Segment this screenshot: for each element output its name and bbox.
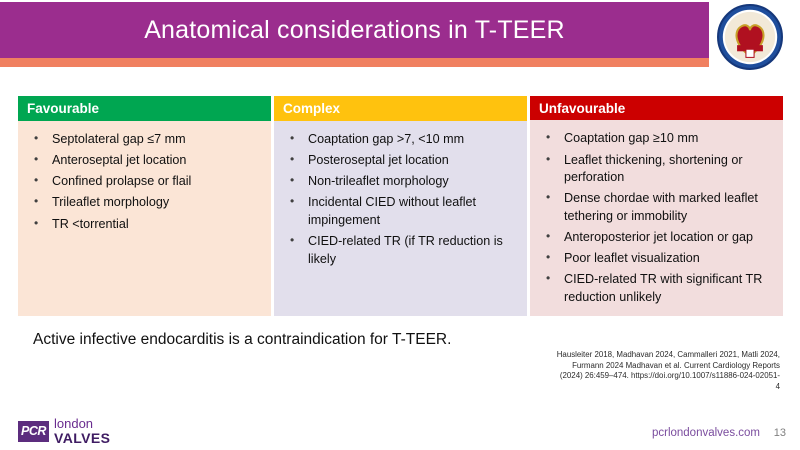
complex-list: Coaptation gap >7, <10 mm Posteroseptal … [278,131,519,268]
list-item: Incidental CIED without leaflet impingem… [278,194,519,229]
list-item: Non-trileaflet morphology [278,173,519,191]
list-item: Septolateral gap ≤7 mm [22,131,263,149]
list-item: Leaflet thickening, shortening or perfor… [534,152,775,187]
slide: Anatomical considerations in T-TEER Favo… [0,0,800,450]
column-body-favourable: Septolateral gap ≤7 mm Anteroseptal jet … [18,121,271,316]
pcr-wordmark-valves: VALVES [54,431,110,445]
column-complex: Complex Coaptation gap >7, <10 mm Poster… [274,96,527,316]
list-item: Posteroseptal jet location [278,152,519,170]
list-item: CIED-related TR (if TR reduction is like… [278,233,519,268]
list-item: Coaptation gap >7, <10 mm [278,131,519,149]
column-body-unfavourable: Coaptation gap ≥10 mm Leaflet thickening… [530,120,783,316]
list-item: Coaptation gap ≥10 mm [534,130,775,148]
title-banner: Anatomical considerations in T-TEER [0,2,709,58]
contraindication-statement: Active infective endocarditis is a contr… [33,331,451,349]
column-header-favourable: Favourable [18,96,271,121]
column-body-complex: Coaptation gap >7, <10 mm Posteroseptal … [274,121,527,316]
column-favourable: Favourable Septolateral gap ≤7 mm Antero… [18,96,271,316]
considerations-table: Favourable Septolateral gap ≤7 mm Antero… [18,96,783,316]
citation-line-2: Furmann 2024 Madhavan et al. Current Car… [483,361,780,372]
unfavourable-list: Coaptation gap ≥10 mm Leaflet thickening… [534,130,775,306]
accent-stripe [0,58,709,67]
pcr-london-valves-logo: PCR london VALVES [18,417,110,445]
list-item: Anteroseptal jet location [22,152,263,170]
website-url[interactable]: pcrlondonvalves.com [652,427,760,439]
citation-line-1: Hausleiter 2018, Madhavan 2024, Cammalle… [483,350,780,361]
favourable-list: Septolateral gap ≤7 mm Anteroseptal jet … [22,131,263,233]
list-item: Poor leaflet visualization [534,250,775,268]
citation-block: Hausleiter 2018, Madhavan 2024, Cammalle… [483,350,780,392]
list-item: Trileaflet morphology [22,194,263,212]
list-item: Dense chordae with marked leaflet tether… [534,190,775,225]
slide-number: 13 [774,427,786,439]
column-header-complex: Complex [274,96,527,121]
pcr-wordmark-london: london [54,417,110,430]
list-item: Anteroposterior jet location or gap [534,229,775,247]
column-header-unfavourable: Unfavourable [530,96,783,120]
citation-line-4: 4 [483,382,780,393]
list-item: TR <torrential [22,216,263,234]
page-title: Anatomical considerations in T-TEER [0,2,709,58]
column-unfavourable: Unfavourable Coaptation gap ≥10 mm Leafl… [530,96,783,316]
cardiology-seal-icon [716,3,784,71]
pcr-mark: PCR [18,421,49,442]
citation-line-3: (2024) 26:459–474. https://doi.org/10.10… [483,371,780,382]
list-item: Confined prolapse or flail [22,173,263,191]
pcr-wordmark: london VALVES [54,417,110,445]
society-logo [716,3,784,71]
list-item: CIED-related TR with significant TR redu… [534,271,775,306]
